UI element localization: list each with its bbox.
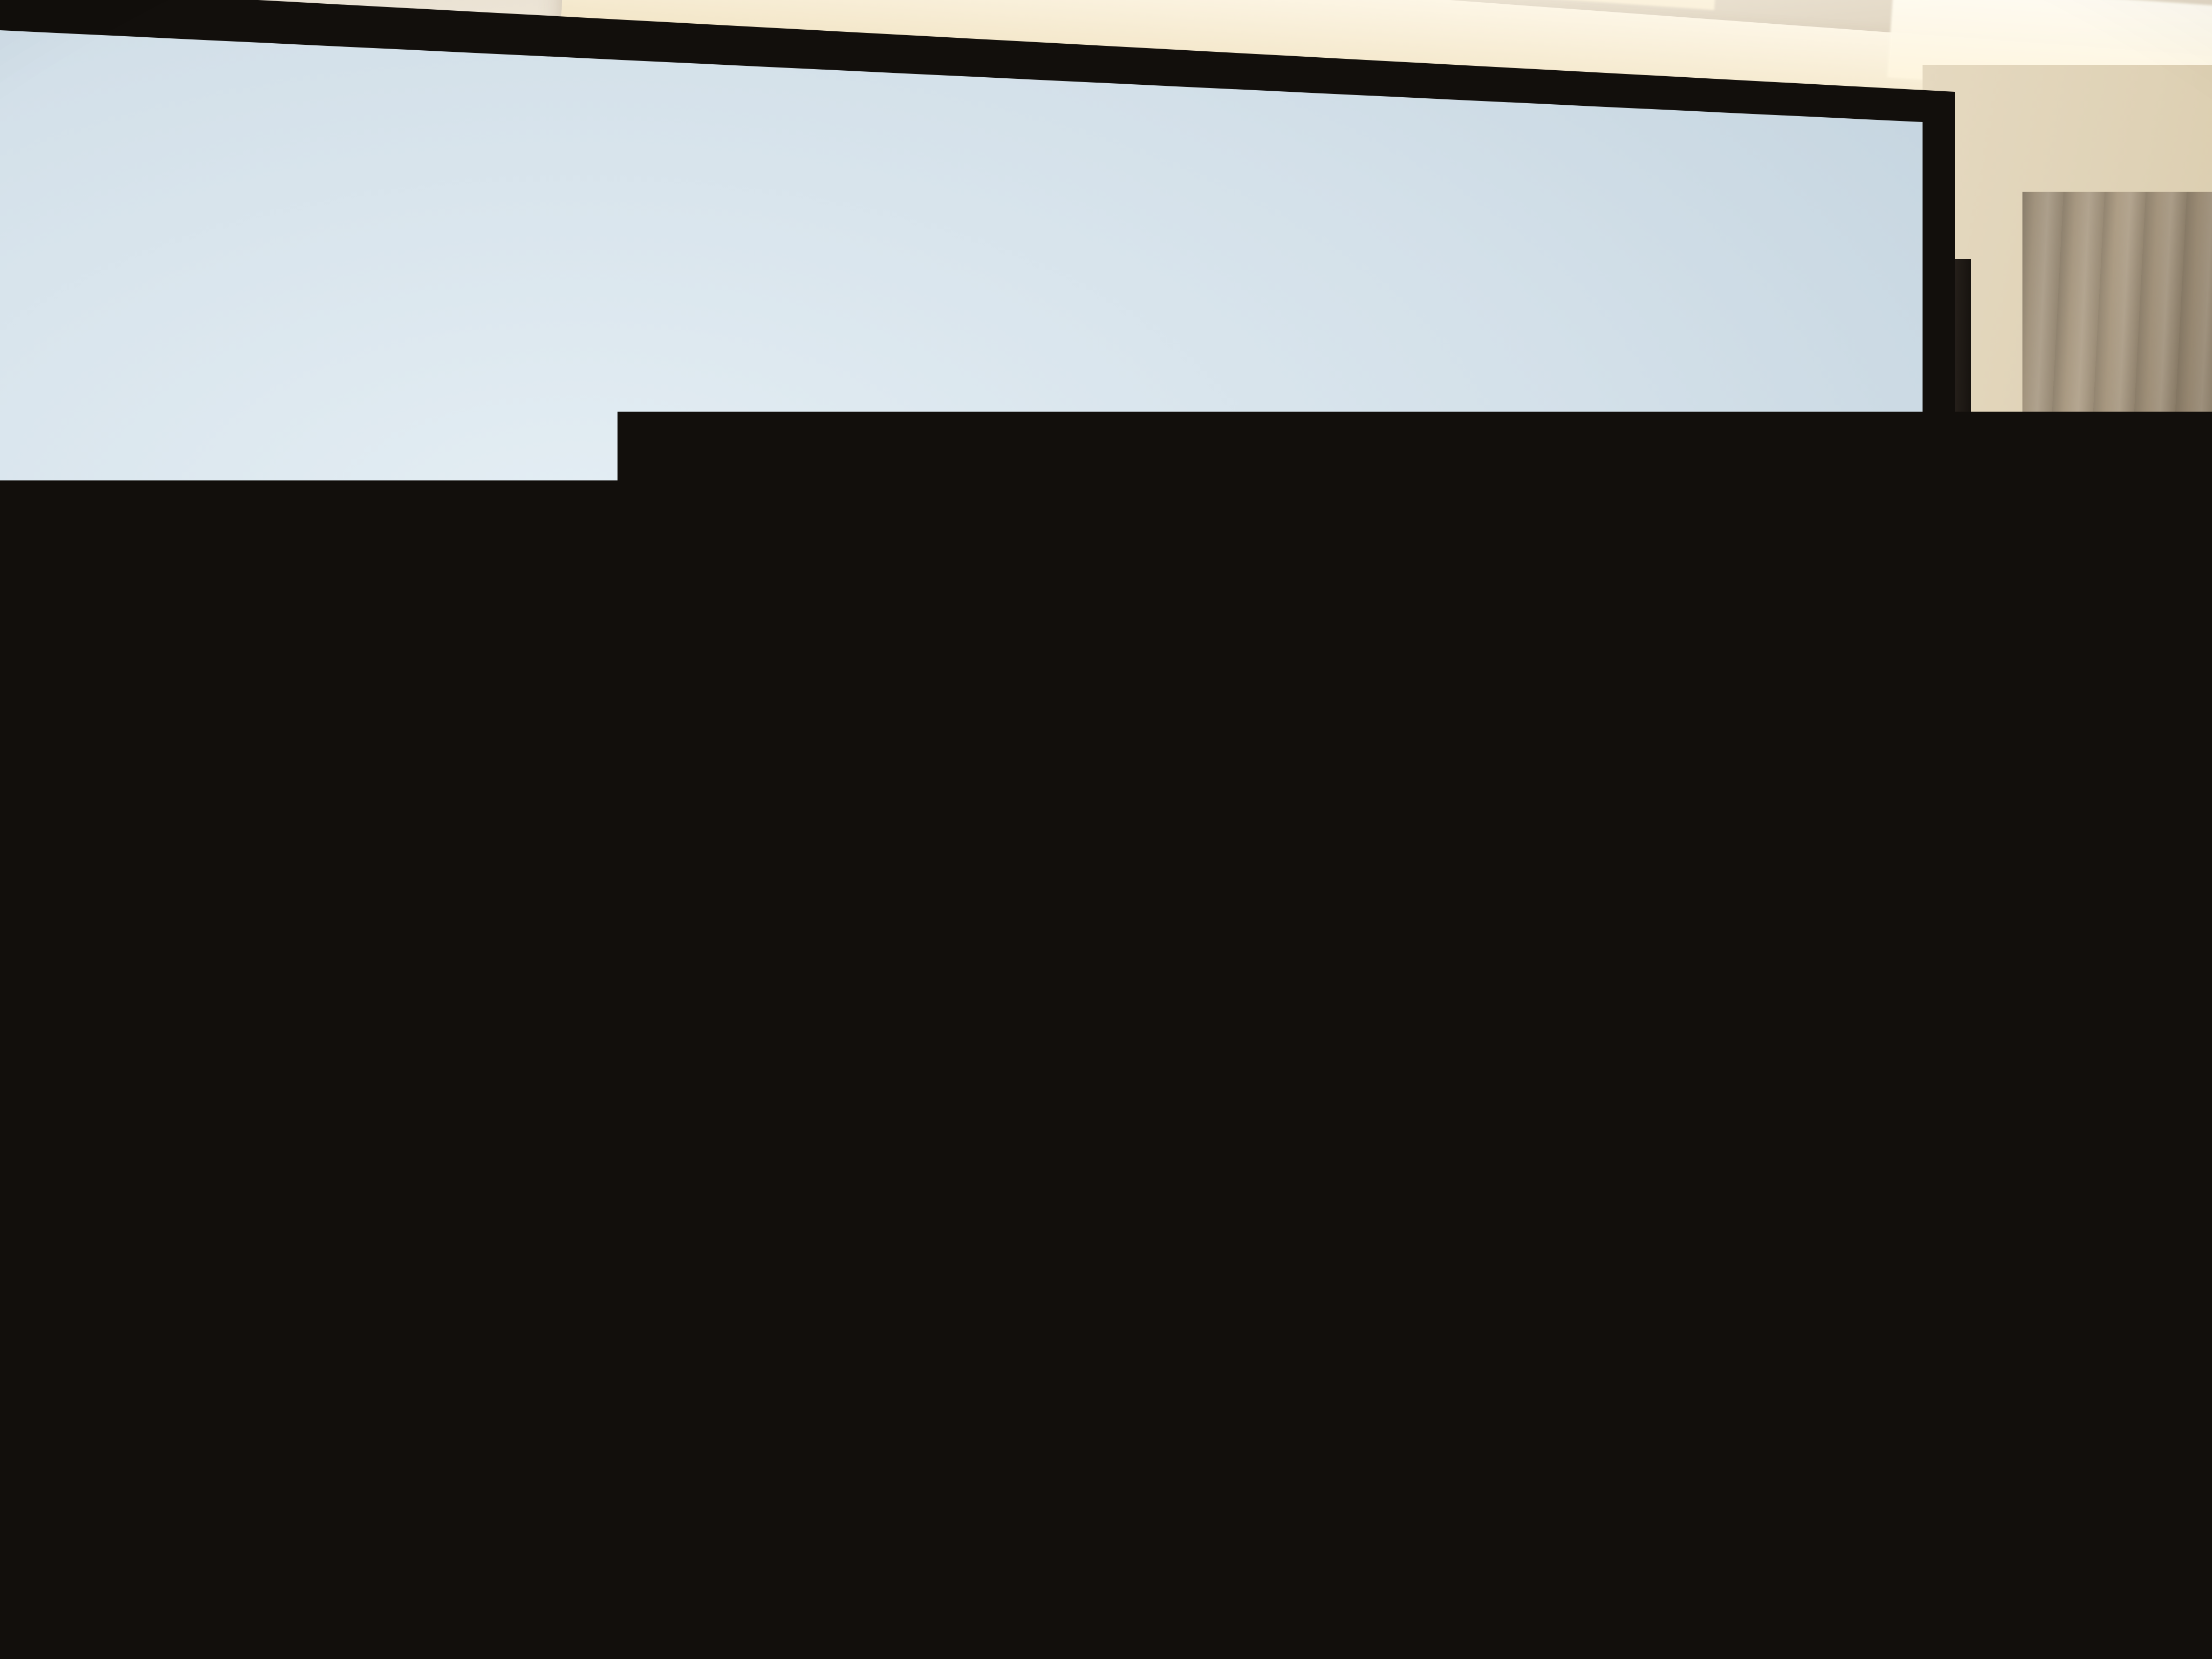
floor-marker bbox=[1774, 1240, 1880, 1285]
banner-divider bbox=[523, 1586, 542, 1659]
slide-content: D C B A 展台 展台 展台 展台 展板 展板 上18级 项目理念 bbox=[0, 16, 1920, 1274]
banner-emblem-icon bbox=[432, 1571, 512, 1659]
social-label-line-1: 社 会 bbox=[1472, 736, 1636, 790]
blueprint-note: 上18级 bbox=[1169, 890, 1204, 904]
right-top-bullet-list: 环境可持续生活方式 挖掘建立气候韧性方案 古村落与老屋的修复利用 bbox=[1469, 430, 1923, 637]
social-label-line-3: 公 益 bbox=[1467, 829, 1631, 884]
grid-mark-a: A bbox=[22, 986, 30, 999]
camera-timestamp: 2025.12.09 16:53 bbox=[1755, 1546, 2152, 1599]
photo-scene: D C B A 展台 展台 展台 展台 展板 展板 上18级 项目理念 bbox=[0, 0, 2212, 1659]
podium-globe-graphic bbox=[670, 1210, 886, 1426]
social-label: 社 会 与 公 益 bbox=[1467, 736, 1636, 884]
center-label: 生态共识 bbox=[905, 682, 1321, 840]
floor-marker bbox=[1936, 1213, 2036, 1255]
grid-mark-c: C bbox=[53, 328, 62, 341]
stage-curtain bbox=[2022, 192, 2212, 1326]
podium-title: 第二届“青年丽水杯”数字游民旅居 共创全国邀请赛决赛暨颁奖仪式 bbox=[756, 988, 1010, 1038]
speaker-person bbox=[486, 632, 718, 934]
grid-mark-d: D bbox=[65, 85, 74, 98]
led-screen: D C B A 展台 展台 展台 展台 展板 展板 上18级 项目理念 bbox=[0, 16, 1923, 1274]
podium-emblem-icon bbox=[713, 987, 746, 1042]
nature-label: 尊重自然 bbox=[922, 390, 1145, 476]
